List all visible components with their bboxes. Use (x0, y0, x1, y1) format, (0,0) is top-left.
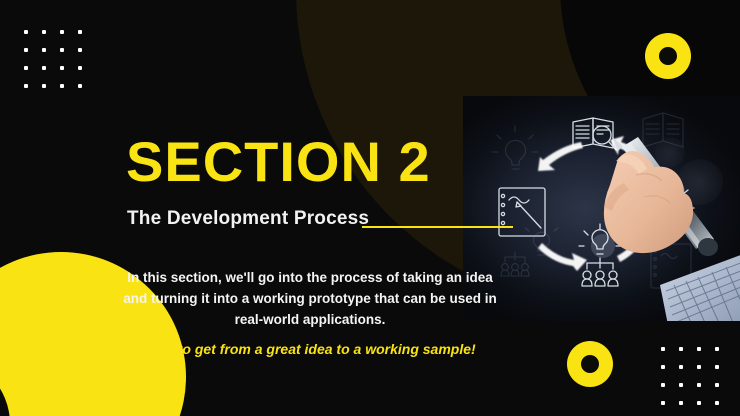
grid-dot (78, 66, 82, 70)
body-paragraph: In this section, we'll go into the proce… (118, 268, 502, 331)
grid-dot (60, 30, 64, 34)
grid-dot (60, 66, 64, 70)
grid-dot (78, 84, 82, 88)
grid-dot (42, 48, 46, 52)
grid-dot (697, 365, 701, 369)
grid-dot (679, 401, 683, 405)
yellow-ring-bottom-center (567, 341, 613, 387)
process-diagram-photo (463, 96, 740, 321)
grid-dot (679, 365, 683, 369)
slide-canvas: SECTION 2 The Development Process In thi… (0, 0, 740, 416)
grid-dot (661, 401, 665, 405)
yellow-blob-cutout (0, 356, 10, 416)
subtitle-underline (362, 226, 513, 228)
hand-shape (604, 151, 693, 253)
page-subtitle: The Development Process (127, 208, 369, 230)
grid-dot (24, 84, 28, 88)
grid-dot (42, 84, 46, 88)
grid-dot (661, 383, 665, 387)
page-title: SECTION 2 (126, 134, 431, 190)
grid-dot (42, 30, 46, 34)
notepad-pencil-icon (499, 188, 545, 236)
yellow-ring-top-right (645, 33, 691, 79)
grid-dot (60, 84, 64, 88)
grid-dot (78, 48, 82, 52)
grid-dot (24, 48, 28, 52)
grid-dot (24, 30, 28, 34)
grid-dot (78, 30, 82, 34)
grid-dot (715, 401, 719, 405)
grid-dot (697, 383, 701, 387)
grid-dot (24, 66, 28, 70)
dot-grid-bottom-right (661, 347, 719, 405)
grid-dot (42, 66, 46, 70)
grid-dot (679, 347, 683, 351)
dot-grid-top-left (24, 30, 82, 88)
grid-dot (697, 347, 701, 351)
grid-dot (679, 383, 683, 387)
grid-dot (697, 401, 701, 405)
hand-with-pen (596, 135, 740, 321)
grid-dot (661, 365, 665, 369)
tagline-text: How to get from a great idea to a workin… (118, 341, 502, 357)
grid-dot (715, 383, 719, 387)
grid-dot (715, 365, 719, 369)
grid-dot (715, 347, 719, 351)
grid-dot (661, 347, 665, 351)
grid-dot (60, 48, 64, 52)
